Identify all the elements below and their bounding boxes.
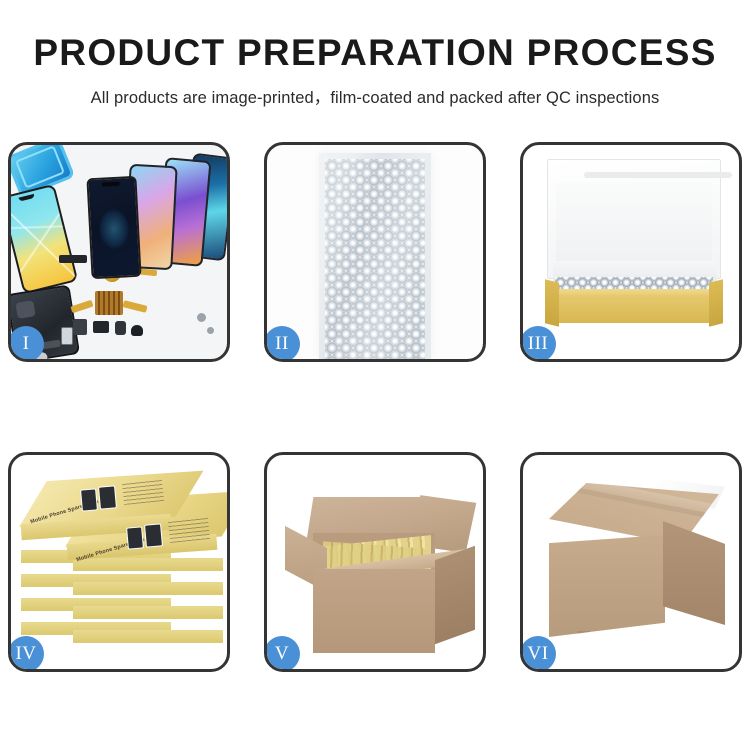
- box-artwork-phone-4: [144, 523, 163, 547]
- step-badge-2: II: [264, 326, 300, 362]
- flex-cable-4: [123, 300, 148, 313]
- sealed-shipping-carton: [539, 477, 731, 649]
- tray-front: [547, 295, 721, 323]
- step-panel-2: II: [264, 142, 486, 362]
- battery-connector-part: [61, 327, 73, 345]
- phone-screen-1: [86, 176, 141, 279]
- box-side: [73, 582, 223, 595]
- carton-front-face: [549, 535, 665, 637]
- page-title: PRODUCT PREPARATION PROCESS: [0, 34, 750, 73]
- tray-right-wall: [709, 279, 723, 326]
- box-artwork-phone-3: [126, 526, 144, 549]
- page-subtitle: All products are image-printed，film-coat…: [0, 84, 750, 108]
- small-part-2: [93, 321, 109, 333]
- tray-left-wall: [545, 279, 559, 326]
- bubble-wrapped-item: [319, 153, 431, 359]
- box-side: [73, 630, 223, 643]
- lid-tab: [584, 172, 732, 178]
- inner-box-illustration: [523, 145, 739, 359]
- screw-1: [197, 313, 206, 322]
- camera-module-part: [131, 325, 143, 336]
- product-preparation-infographic: PRODUCT PREPARATION PROCESS All products…: [0, 0, 750, 750]
- step-panel-3: III: [520, 142, 742, 362]
- box-artwork-phone-2: [98, 485, 117, 509]
- flex-cable-3: [70, 300, 93, 313]
- step-panel-6: VI: [520, 452, 742, 672]
- box-artwork-phone-1: [80, 488, 98, 511]
- cracked-phone-screen: [11, 184, 78, 295]
- carton-side-face: [435, 546, 475, 645]
- step-panel-5: V: [264, 452, 486, 672]
- step-badge-1: I: [8, 326, 44, 362]
- carton-front-face: [313, 569, 435, 653]
- step-badge-6: VI: [520, 636, 556, 672]
- earpiece-mesh-part: [59, 255, 87, 263]
- step-badge-4: IV: [8, 636, 44, 672]
- box-stack: Mobile Phone Spare Parts Mobile Phone Sp…: [13, 465, 227, 665]
- carton-flap-notch-1: [577, 631, 590, 651]
- box-side: [73, 558, 223, 571]
- plastic-sheen: [319, 153, 431, 359]
- kraft-tray: [547, 273, 721, 323]
- small-part-3: [115, 321, 126, 335]
- carton-side-face: [663, 521, 725, 625]
- step-badge-3: III: [520, 326, 556, 362]
- stacked-boxes-illustration: Mobile Phone Spare Parts Mobile Phone Sp…: [11, 455, 227, 669]
- open-carton-illustration: [267, 455, 483, 669]
- step-panel-1: I: [8, 142, 230, 362]
- box-spec-lines-back: [168, 517, 210, 543]
- screw-2: [207, 327, 214, 334]
- connector-board-part: [95, 291, 123, 315]
- step-panel-4: Mobile Phone Spare Parts Mobile Phone Sp…: [8, 452, 230, 672]
- step-badge-5: V: [264, 636, 300, 672]
- sealed-carton-illustration: [523, 455, 739, 669]
- bubble-wrap-illustration: [267, 145, 483, 359]
- small-part-1: [73, 319, 87, 335]
- box-spec-lines-front: [122, 479, 164, 505]
- parts-illustration: [11, 145, 227, 359]
- box-side: [73, 606, 223, 619]
- header: PRODUCT PREPARATION PROCESS All products…: [0, 0, 750, 108]
- open-shipping-carton: [287, 483, 473, 655]
- steps-grid: I II: [8, 142, 742, 672]
